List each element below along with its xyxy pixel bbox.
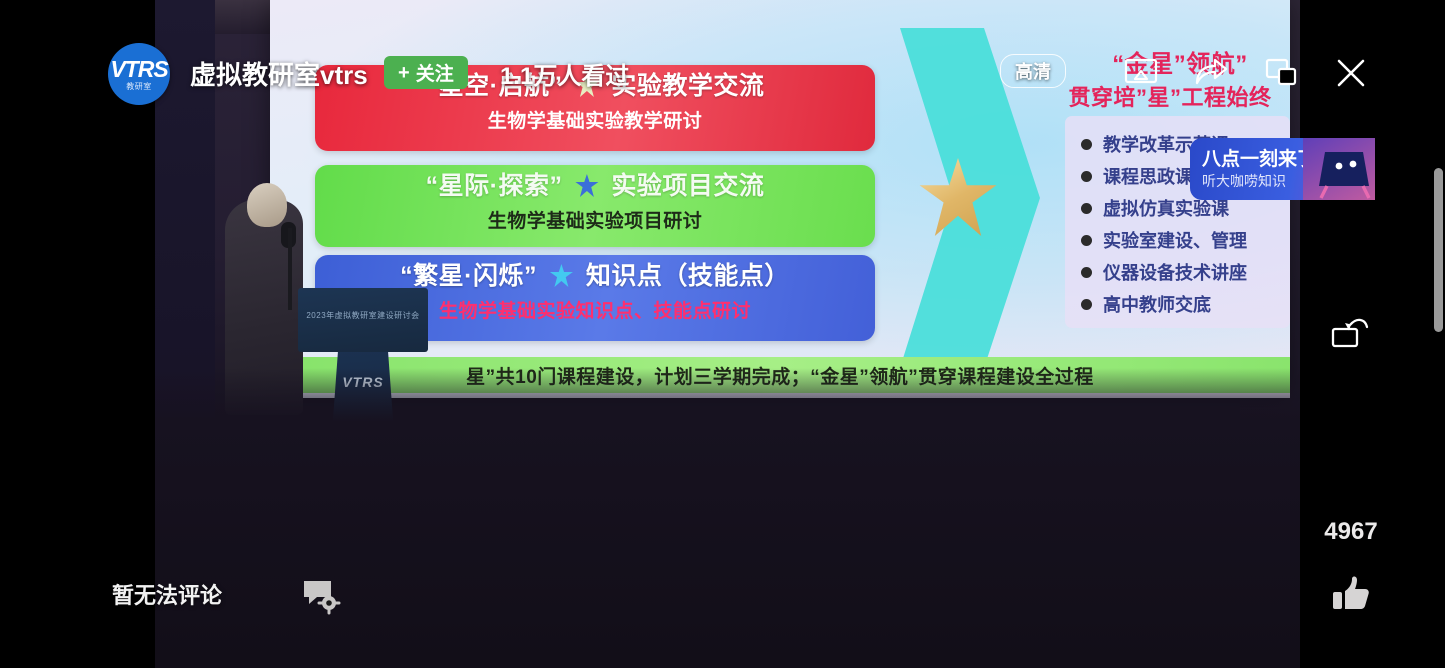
follow-label: 关注 [416,59,454,86]
quality-badge[interactable]: 高清 [1000,54,1066,88]
podium-banner-text: 2023年虚拟教研室建设研讨会 [298,310,428,321]
like-count: 4967 [1305,518,1397,546]
promo-toast[interactable]: 八点一刻来了 听大咖唠知识 [1190,138,1375,200]
toast-title: 八点一刻来了 [1202,149,1316,171]
slide-bar-title-right: 知识点（技能点） [586,262,790,290]
bullet-label: 实验室建设、管理 [1103,227,1247,253]
bullet-item: 高中教师交底 [1081,288,1290,320]
comment-status: 暂无法评论 [112,578,222,610]
slide-bar-title-right: 实验教学交流 [611,72,764,100]
microphone-stand [288,228,292,310]
cast-icon[interactable] [1118,50,1164,96]
avatar-sub: 教研室 [126,83,152,91]
star-icon [575,174,599,197]
bullet-dot-icon [1081,299,1092,310]
slide-bar-subtitle: 生物学基础实验项目研讨 [315,206,875,233]
slide-bar-title: “星际·探索” 实验项目交流 [315,172,875,202]
screen-rotate-icon[interactable] [1328,308,1374,354]
share-icon[interactable] [1188,50,1234,96]
slide-bar-title-left: “繁星·闪烁” [400,262,537,290]
view-count: 1.1万人看过 [500,56,629,91]
picture-in-picture-icon[interactable] [1258,50,1304,96]
vertical-scrollbar-thumb[interactable] [1434,168,1443,332]
thumbs-up-icon[interactable] [1328,570,1374,616]
video-surface[interactable]: “星空·启航” 实验教学交流 生物学基础实验教学研讨 “星际·探索” 实验项目交… [155,0,1300,668]
bullet-dot-icon [1081,267,1092,278]
follow-button[interactable]: + 关注 [384,56,468,89]
bullet-label: 仪器设备技术讲座 [1103,259,1247,285]
slide-bar-subtitle: 生物学基础实验教学研讨 [315,106,875,133]
bullet-dot-icon [1081,171,1092,182]
bullet-dot-icon [1081,203,1092,214]
scrollbar[interactable] [1434,0,1445,668]
slide-bar-title-left: “星际·探索” [426,172,563,200]
bullet-label: 课程思政课 [1103,163,1193,189]
comment-settings-icon[interactable] [300,574,342,616]
channel-name[interactable]: 虚拟教研室vtrs [190,55,368,92]
avatar[interactable]: VTRS 教研室 [108,43,170,105]
bullet-label: 高中教师交底 [1103,291,1211,317]
robot-mascot-icon [1303,138,1375,200]
bullet-item: 实验室建设、管理 [1081,224,1290,256]
bullet-dot-icon [1081,235,1092,246]
toast-subtitle: 听大咖唠知识 [1202,173,1316,189]
slide-bar-green: “星际·探索” 实验项目交流 生物学基础实验项目研讨 [315,165,875,247]
toast-texts: 八点一刻来了 听大咖唠知识 [1190,149,1316,189]
close-icon[interactable] [1328,50,1374,96]
bullet-item: 仪器设备技术讲座 [1081,256,1290,288]
video-player-page: “星空·启航” 实验教学交流 生物学基础实验教学研讨 “星际·探索” 实验项目交… [0,0,1445,668]
plus-icon: + [398,63,410,83]
avatar-mark: VTRS [110,58,167,81]
slide-bar-title-right: 实验项目交流 [611,172,764,200]
podium: 2023年虚拟教研室建设研讨会 [298,288,428,352]
bullet-dot-icon [1081,139,1092,150]
star-icon [549,264,573,287]
audience-area [155,368,1300,668]
speaker-head [247,183,287,227]
